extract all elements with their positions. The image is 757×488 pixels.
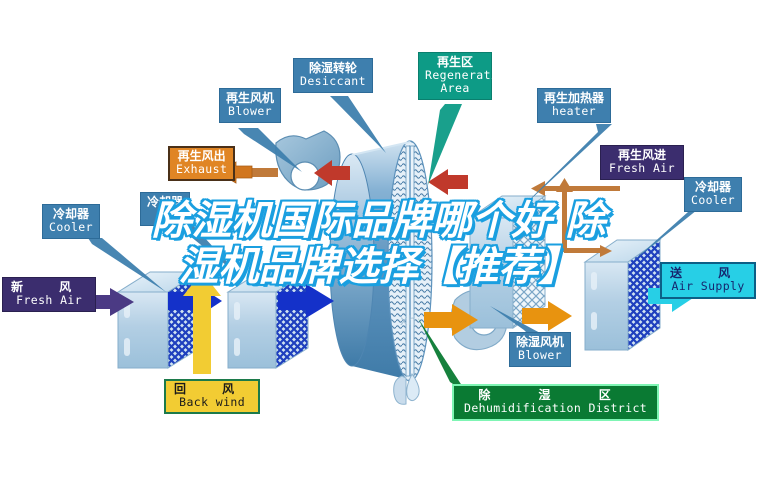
label-regen-blower[interactable]: 再生风机 Blower [219,88,281,123]
label-regeneration-area-en: Regeneration Area [425,69,485,95]
label-desiccant-wheel[interactable]: 除湿转轮 Desiccant [293,58,373,93]
label-dehum-blower[interactable]: 除湿风机 Blower [509,332,571,367]
label-regen-blower-en: Blower [226,105,274,118]
label-regeneration-area-cn: 再生区 [425,56,485,69]
label-desiccant-wheel-en: Desiccant [300,75,366,88]
label-regen-air-in-en: Fresh Air [609,162,675,175]
label-back-wind-cn: 回 风 [174,383,250,396]
label-cooler-right-cn: 冷却器 [691,181,735,194]
heater-feed [531,181,620,196]
label-dehum-district[interactable]: 除 湿 区 Dehumidification District [452,384,659,421]
label-back-wind-en: Back wind [174,396,250,409]
headline-line-1: 除湿机国际品牌哪个好 除 [0,198,757,244]
regen-after-heater [428,169,468,195]
label-regen-heater[interactable]: 再生加热器 heater [537,88,611,123]
label-dehum-blower-cn: 除湿风机 [516,336,564,349]
label-fresh-air-in-en: Fresh Air [11,294,87,307]
label-dehum-blower-en: Blower [516,349,564,362]
water-drop [394,374,419,404]
watermark: xh [400,314,416,329]
label-desiccant-wheel-cn: 除湿转轮 [300,62,366,75]
headline-overlay: 除湿机国际品牌哪个好 除 湿机品牌选择【推荐】 [0,198,757,290]
label-regen-air-out-en: Exhaust [176,163,227,176]
label-dehum-district-en: Dehumidification District [464,402,647,415]
label-regen-air-in-cn: 再生风进 [609,149,675,162]
label-dehum-district-cn: 除 湿 区 [464,389,647,402]
headline-line-2: 湿机品牌选择【推荐】 [0,244,757,290]
label-regen-blower-cn: 再生风机 [226,92,274,105]
label-regen-air-out[interactable]: 再生风出 Exhaust [168,146,235,181]
label-regen-air-out-cn: 再生风出 [176,150,227,163]
label-regen-air-in[interactable]: 再生风进 Fresh Air [600,145,684,180]
dehumidifier-diagram: xh [0,0,757,488]
label-regen-heater-en: heater [544,105,604,118]
label-back-wind[interactable]: 回 风 Back wind [164,379,260,414]
label-regen-heater-cn: 再生加热器 [544,92,604,105]
label-regeneration-area[interactable]: 再生区 Regeneration Area [418,52,492,100]
